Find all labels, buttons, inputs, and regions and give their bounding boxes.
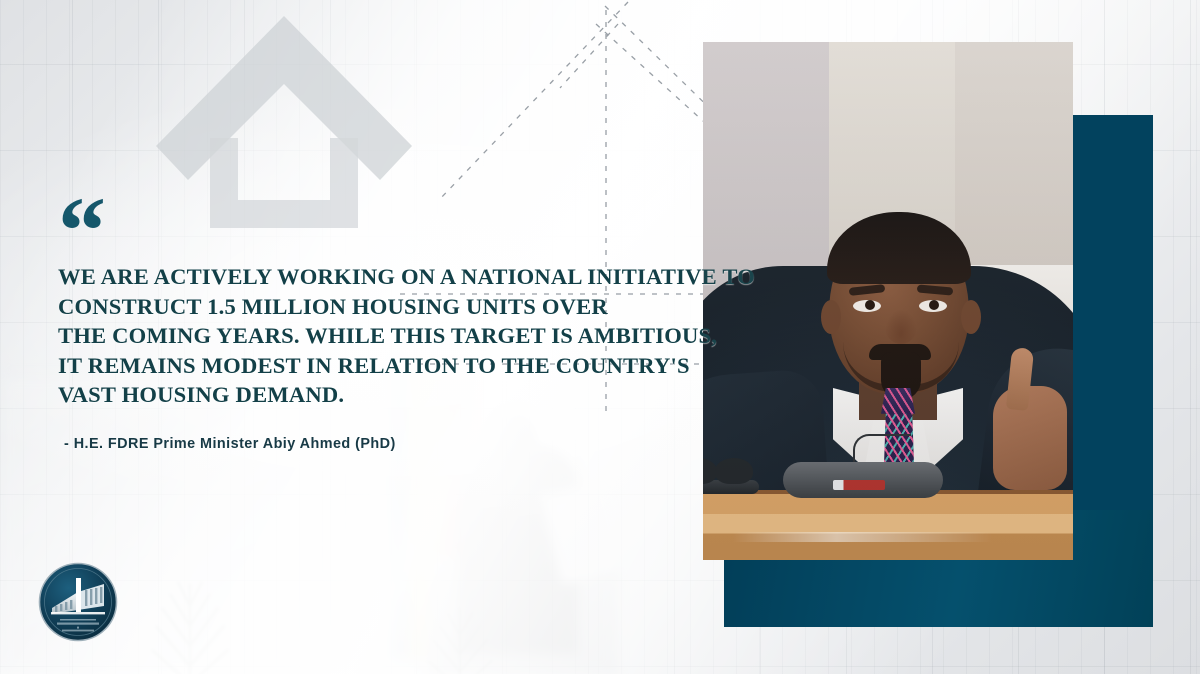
quote-block: “ WE ARE ACTIVELY WORKING ON A NATIONAL … (58, 196, 678, 452)
quote-text: WE ARE ACTIVELY WORKING ON A NATIONAL IN… (58, 262, 678, 410)
wooden-podium (703, 490, 1073, 560)
quote-line: VAST HOUSING DEMAND. (58, 380, 678, 410)
hand (993, 386, 1067, 490)
palm-frond-icon (130, 554, 250, 674)
palm-frond-icon (412, 587, 508, 674)
quote-line: CONSTRUCT 1.5 MILLION HOUSING UNITS OVER (58, 292, 678, 322)
quotation-mark-icon: “ (58, 196, 678, 254)
organization-logo-badge-icon (38, 562, 118, 642)
microphone-icon (715, 458, 753, 484)
quote-line: IT REMAINS MODEST IN RELATION TO THE COU… (58, 351, 678, 381)
portrait-photo (703, 42, 1073, 560)
accent-block-vertical (1073, 115, 1153, 565)
quote-poster: “ WE ARE ACTIVELY WORKING ON A NATIONAL … (0, 0, 1200, 674)
quote-attribution: - H.E. FDRE Prime Minister Abiy Ahmed (P… (64, 436, 678, 452)
quote-line: THE COMING YEARS. WHILE THIS TARGET IS A… (58, 321, 678, 351)
quote-line: WE ARE ACTIVELY WORKING ON A NATIONAL IN… (58, 262, 678, 292)
